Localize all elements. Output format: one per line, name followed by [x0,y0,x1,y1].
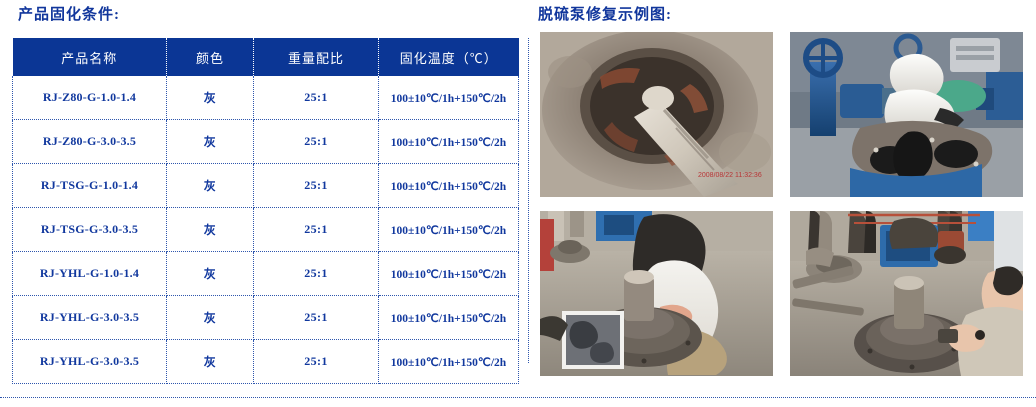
cell-weight-ratio: 25:1 [254,252,379,296]
curing-conditions-table: 产品名称 颜色 重量配比 固化温度（℃） RJ-Z80-G-1.0-1.4 灰 … [12,38,519,384]
photo-technician-impeller [540,211,773,376]
product-curing-spec-page: 产品固化条件: 产品名称 颜色 重量配比 固化温度（℃） RJ-Z80-G-1.… [0,0,1036,407]
cell-curing-temperature: 100±10℃/1h+150℃/2h [379,296,519,340]
footer-divider [0,397,1036,398]
column-header-weight-ratio: 重量配比 [254,38,379,76]
table-row: RJ-TSG-G-3.0-3.5 灰 25:1 100±10℃/1h+150℃/… [13,208,519,252]
cell-product-name: RJ-TSG-G-1.0-1.4 [13,164,167,208]
photo-worker-on-blue-pump [790,32,1023,197]
cell-product-name: RJ-YHL-G-1.0-1.4 [13,252,167,296]
repair-gallery-panel: 脱硫泵修复示例图: [530,0,1036,407]
photo-watermark: 2008/08/22 11:32:36 [698,172,762,179]
column-header-color: 颜色 [167,38,254,76]
cell-weight-ratio: 25:1 [254,208,379,252]
cell-color: 灰 [167,164,254,208]
table-row: RJ-TSG-G-1.0-1.4 灰 25:1 100±10℃/1h+150℃/… [13,164,519,208]
table-row: RJ-YHL-G-3.0-3.5 灰 25:1 100±10℃/1h+150℃/… [13,296,519,340]
cell-product-name: RJ-Z80-G-1.0-1.4 [13,76,167,120]
cell-color: 灰 [167,208,254,252]
cell-product-name: RJ-Z80-G-3.0-3.5 [13,120,167,164]
table-row: RJ-Z80-G-3.0-3.5 灰 25:1 100±10℃/1h+150℃/… [13,120,519,164]
table-body: RJ-Z80-G-1.0-1.4 灰 25:1 100±10℃/1h+150℃/… [13,76,519,384]
column-header-product-name: 产品名称 [13,38,167,76]
cell-weight-ratio: 25:1 [254,340,379,384]
photo-workers-pump-flange [790,211,1023,376]
cell-curing-temperature: 100±10℃/1h+150℃/2h [379,208,519,252]
cell-curing-temperature: 100±10℃/1h+150℃/2h [379,340,519,384]
cell-color: 灰 [167,76,254,120]
cell-curing-temperature: 100±10℃/1h+150℃/2h [379,120,519,164]
cell-weight-ratio: 25:1 [254,164,379,208]
panel-divider [528,38,529,363]
cell-curing-temperature: 100±10℃/1h+150℃/2h [379,76,519,120]
table-header-row: 产品名称 颜色 重量配比 固化温度（℃） [13,38,519,76]
photo-corroded-pump-casing: 2008/08/22 11:32:36 [540,32,773,197]
table-row: RJ-YHL-G-1.0-1.4 灰 25:1 100±10℃/1h+150℃/… [13,252,519,296]
cell-weight-ratio: 25:1 [254,76,379,120]
curing-conditions-panel: 产品固化条件: 产品名称 颜色 重量配比 固化温度（℃） RJ-Z80-G-1.… [0,0,528,407]
table-row: RJ-YHL-G-3.0-3.5 灰 25:1 100±10℃/1h+150℃/… [13,340,519,384]
table-row: RJ-Z80-G-1.0-1.4 灰 25:1 100±10℃/1h+150℃/… [13,76,519,120]
photo-grid: 2008/08/22 11:32:36 [540,32,1026,376]
photo-workers-pump-flange-image [790,211,1023,376]
photo-corroded-pump-casing-image: 2008/08/22 11:32:36 [540,32,773,197]
cell-curing-temperature: 100±10℃/1h+150℃/2h [379,252,519,296]
cell-product-name: RJ-YHL-G-3.0-3.5 [13,296,167,340]
cell-color: 灰 [167,340,254,384]
cell-product-name: RJ-TSG-G-3.0-3.5 [13,208,167,252]
cell-color: 灰 [167,296,254,340]
page-title: 产品固化条件: [18,3,120,24]
cell-curing-temperature: 100±10℃/1h+150℃/2h [379,164,519,208]
cell-product-name: RJ-YHL-G-3.0-3.5 [13,340,167,384]
cell-color: 灰 [167,120,254,164]
column-header-curing-temperature: 固化温度（℃） [379,38,519,76]
gallery-title: 脱硫泵修复示例图: [538,3,672,24]
photo-technician-impeller-image [540,211,773,376]
cell-color: 灰 [167,252,254,296]
photo-worker-on-blue-pump-image [790,32,1023,197]
cell-weight-ratio: 25:1 [254,120,379,164]
cell-weight-ratio: 25:1 [254,296,379,340]
